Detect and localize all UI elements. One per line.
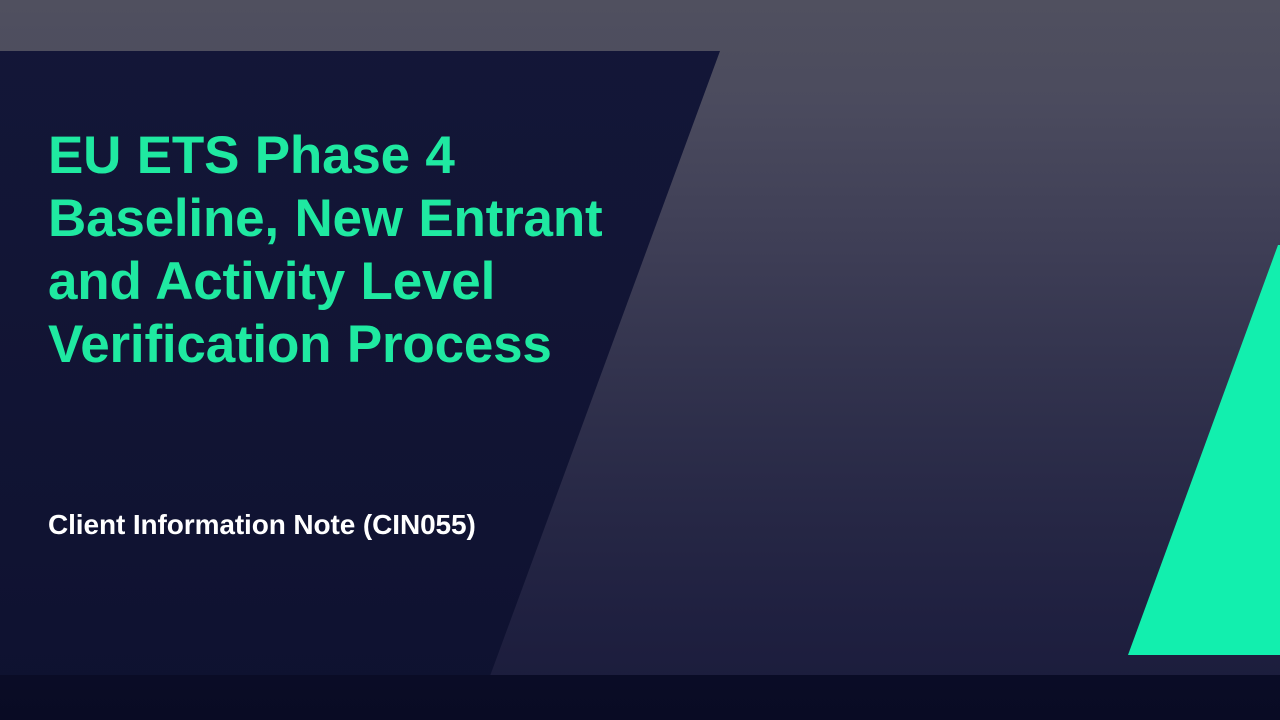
title-slide: EU ETS Phase 4 Baseline, New Entrant and…: [0, 0, 1280, 720]
bottom-accent-strip: [0, 675, 1280, 720]
slide-subtitle: Client Information Note (CIN055): [48, 504, 568, 545]
page-title: EU ETS Phase 4 Baseline, New Entrant and…: [48, 124, 608, 376]
angled-green-accent: [1080, 200, 1280, 720]
title-text-block: EU ETS Phase 4 Baseline, New Entrant and…: [48, 124, 608, 376]
